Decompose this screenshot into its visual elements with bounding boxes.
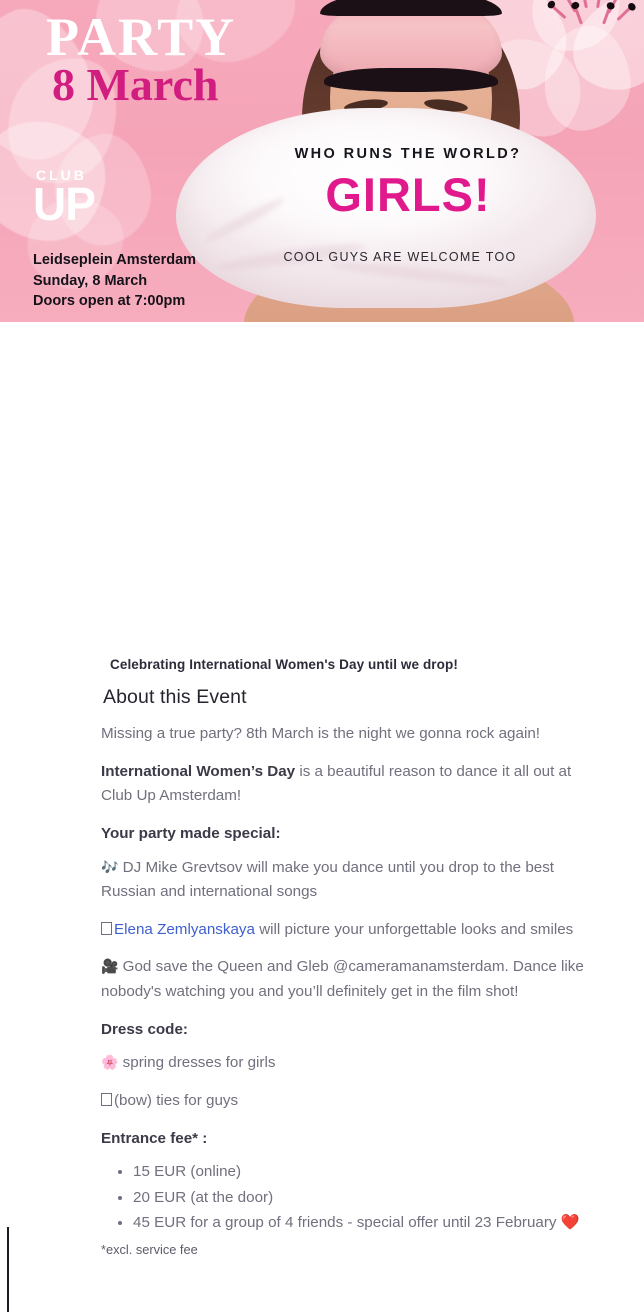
- club-up-logo: CLUB UP: [33, 168, 95, 225]
- womens-day-bold: International Women’s Day: [101, 763, 295, 780]
- intro-paragraph: Missing a true party? 8th March is the n…: [101, 722, 585, 747]
- music-notes-icon: 🎶: [101, 860, 118, 876]
- venue-details: Leidseplein Amsterdam Sunday, 8 March Do…: [33, 250, 196, 312]
- banner-title: PARTY: [46, 8, 236, 66]
- event-hero-banner: PARTY 8 March CLUB UP Leidseplein Amster…: [0, 0, 644, 322]
- banner-subtext: COOL GUYS ARE WELCOME TOO: [250, 250, 550, 264]
- list-item: 15 EUR (online): [133, 1160, 585, 1185]
- party-special-label: Your party made special:: [101, 822, 585, 847]
- dj-paragraph: 🎶 DJ Mike Grevtsov will make you dance u…: [101, 856, 585, 905]
- dress-code-girls: 🌸 spring dresses for girls: [101, 1051, 585, 1076]
- photographer-paragraph: Elena Zemlyanskaya will picture your unf…: [101, 918, 585, 943]
- photographer-rest: will picture your unforgettable looks an…: [255, 921, 573, 938]
- list-item: 45 EUR for a group of 4 friends - specia…: [133, 1211, 585, 1236]
- videographer-paragraph: 🎥 God save the Queen and Gleb @cameraman…: [101, 955, 585, 1004]
- entrance-fee-label: Entrance fee* :: [101, 1127, 585, 1152]
- banner-answer-text: GIRLS!: [258, 170, 558, 219]
- dress-guys-text: (bow) ties for guys: [114, 1092, 238, 1109]
- videographer-text: God save the Queen and Gleb @cameramanam…: [101, 958, 584, 1000]
- left-edge-rail: [7, 1227, 9, 1312]
- venue-line-doors: Doors open at 7:00pm: [33, 291, 196, 312]
- missing-glyph-icon: [101, 1093, 112, 1106]
- cherry-blossom-emoji-icon: 🌸: [101, 1055, 118, 1071]
- sleep-mask-frill: [320, 0, 502, 16]
- dress-code-label: Dress code:: [101, 1018, 585, 1043]
- description-body: Missing a true party? 8th March is the n…: [101, 722, 585, 1259]
- venue-line-location: Leidseplein Amsterdam: [33, 250, 196, 271]
- blossom-stamen: [558, 0, 628, 32]
- about-this-event-heading: About this Event: [103, 686, 247, 709]
- banner-question-text: WHO RUNS THE WORLD?: [258, 146, 558, 162]
- entrance-fee-list: 15 EUR (online) 20 EUR (at the door) 45 …: [101, 1160, 585, 1236]
- dress-girls-text: spring dresses for girls: [123, 1054, 276, 1071]
- sleep-mask-frill: [324, 68, 498, 92]
- service-fee-footnote: *excl. service fee: [101, 1240, 585, 1259]
- missing-glyph-icon: [101, 922, 112, 935]
- list-item: 20 EUR (at the door): [133, 1186, 585, 1211]
- movie-camera-icon: 🎥: [101, 959, 118, 975]
- venue-line-date: Sunday, 8 March: [33, 271, 196, 292]
- event-tagline: Celebrating International Women's Day un…: [110, 657, 458, 672]
- dress-code-guys: (bow) ties for guys: [101, 1089, 585, 1114]
- womens-day-paragraph: International Women’s Day is a beautiful…: [101, 760, 585, 809]
- dj-text: DJ Mike Grevtsov will make you dance unt…: [101, 859, 554, 901]
- photographer-link[interactable]: Elena Zemlyanskaya: [114, 921, 255, 938]
- logo-up-text: UP: [33, 183, 95, 225]
- banner-date: 8 March: [52, 60, 219, 110]
